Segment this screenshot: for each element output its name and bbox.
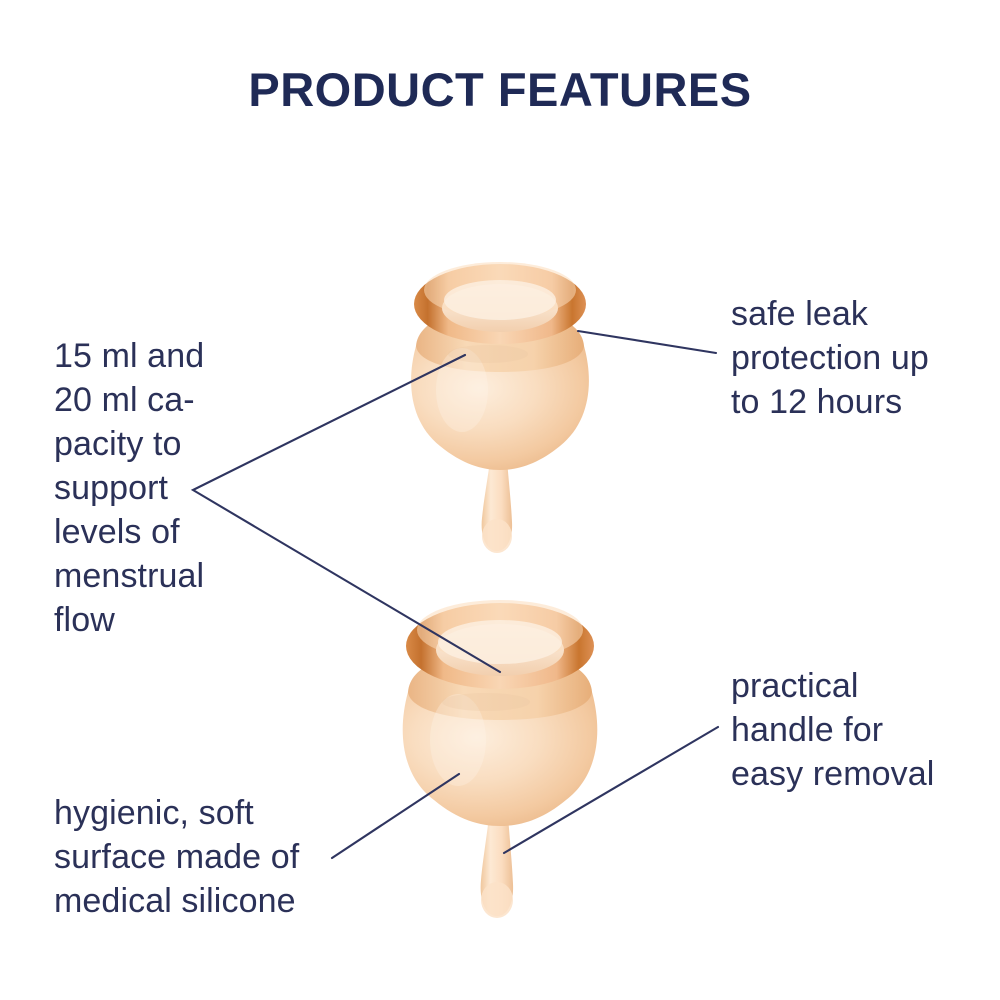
silicone-label-line: medical silicone <box>54 879 299 923</box>
menstrual-cup-large <box>386 588 614 926</box>
capacity-label-line: flow <box>54 598 204 642</box>
capacity-label-line: 15 ml and <box>54 334 204 378</box>
capacity-label-line: levels of <box>54 510 204 554</box>
capacity-label-line: pacity to <box>54 422 204 466</box>
capacity-label: 15 ml and 20 ml ca- pacity to support le… <box>54 334 204 642</box>
silicone-label: hygienic, soft surface made of medical s… <box>54 791 299 923</box>
handle-label-line: handle for <box>731 708 934 752</box>
leak-protection-label-line: to 12 hours <box>731 380 929 424</box>
handle-tip <box>482 519 512 553</box>
capacity-label-line: 20 ml ca- <box>54 378 204 422</box>
handle-label: practical handle for easy removal <box>731 664 934 796</box>
silicone-label-line: surface made of <box>54 835 299 879</box>
handle-label-line: practical <box>731 664 934 708</box>
rim-inner-highlight <box>444 280 556 320</box>
rim-inner-highlight <box>438 620 562 664</box>
handle-tip <box>481 882 513 918</box>
embossed-marking <box>448 345 528 363</box>
capacity-label-line: menstrual <box>54 554 204 598</box>
menstrual-cup-small <box>396 250 604 560</box>
handle-label-line: easy removal <box>731 752 934 796</box>
silicone-label-line: hygienic, soft <box>54 791 299 835</box>
leak-protection-label-line: safe leak <box>731 292 929 336</box>
product-features-infographic: PRODUCT FEATURES <box>0 0 1000 1000</box>
leak-protection-label-line: protection up <box>731 336 929 380</box>
leak-protection-label: safe leak protection up to 12 hours <box>731 292 929 424</box>
capacity-label-line: support <box>54 466 204 510</box>
embossed-marking <box>442 693 530 711</box>
